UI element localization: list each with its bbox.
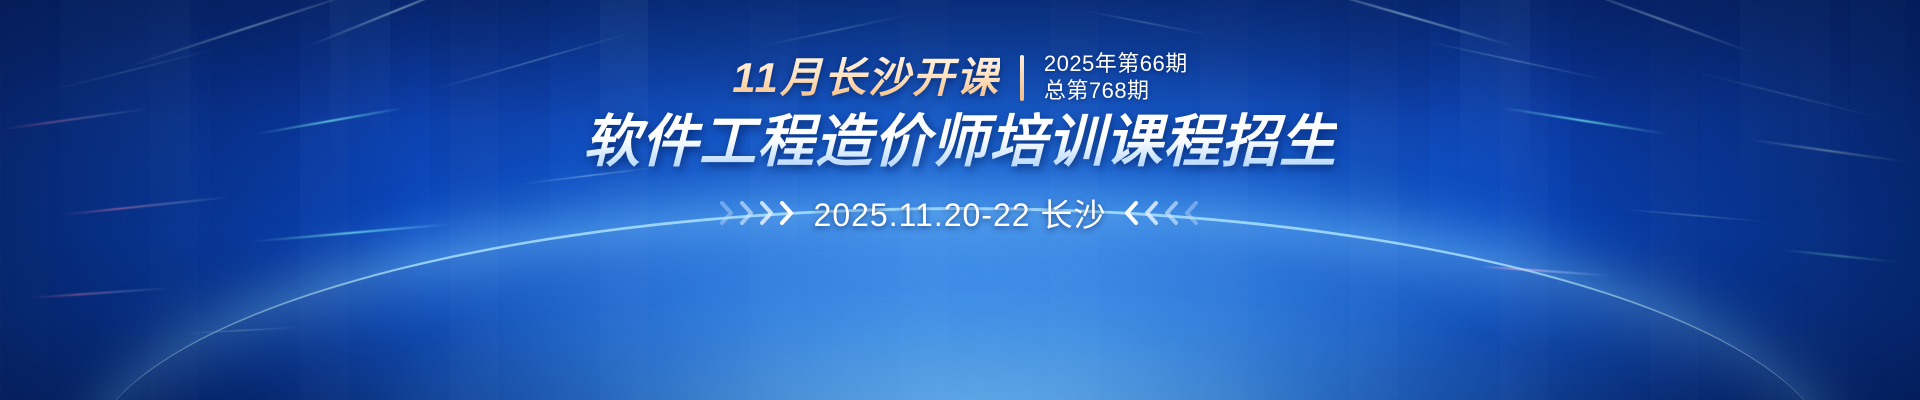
issue-info: 2025年第66期 总第768期	[1044, 51, 1188, 105]
issue-total-label: 总第768期	[1044, 78, 1188, 105]
chevron-left-group-icon	[1124, 200, 1201, 226]
chevron-right-group-icon	[719, 200, 796, 226]
banner-kicker-row: 11月长沙开课 2025年第66期 总第768期	[732, 52, 1188, 104]
issue-year-label: 2025年第66期	[1044, 51, 1188, 78]
promo-banner: 11月长沙开课 2025年第66期 总第768期 软件工程造价师培训课程招生 2…	[0, 0, 1920, 400]
banner-title: 软件工程造价师培训课程招生	[583, 112, 1337, 174]
date-location-text: 2025.11.20-22 长沙	[814, 190, 1107, 236]
kicker-text: 11月长沙开课	[732, 57, 1000, 99]
kicker-divider	[1020, 55, 1024, 101]
banner-date-row: 2025.11.20-22 长沙	[719, 190, 1202, 236]
banner-content: 11月长沙开课 2025年第66期 总第768期 软件工程造价师培训课程招生 2…	[0, 0, 1920, 400]
